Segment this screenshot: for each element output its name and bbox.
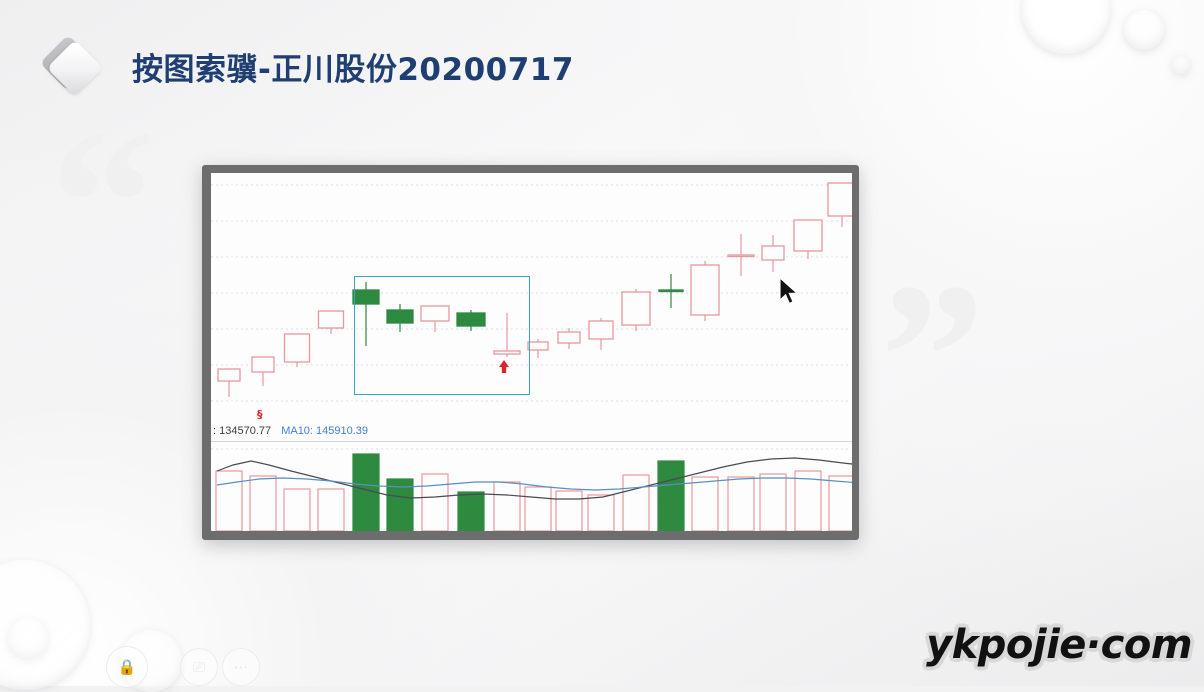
keyboard-icon: ⎚ (181, 649, 217, 685)
pane-divider (211, 441, 852, 442)
decor-bubble (8, 618, 48, 658)
decor-quote-open: “ (50, 128, 155, 279)
decor-ghost-icon: ⋯ (222, 648, 260, 686)
page-title: 按图索骥-正川股份20200717 (132, 44, 574, 89)
chart-canvas[interactable]: § : 134570.77 MA10: 145910.39 (211, 173, 852, 531)
decor-ghost-icon: 🔒 (106, 646, 148, 688)
ma-readout: : 134570.77 MA10: 145910.39 (213, 425, 368, 437)
volume-pane (211, 445, 852, 531)
decor-ghost-icon: ⎚ (180, 648, 218, 686)
price-pane (211, 173, 852, 423)
chart-window: § : 134570.77 MA10: 145910.39 (202, 165, 859, 540)
buy-signal-arrow (211, 173, 851, 423)
marker-glyph: § (257, 409, 263, 420)
header: 按图索骥-正川股份20200717 (0, 0, 1204, 120)
ma-value: : 134570.77 (213, 425, 271, 437)
lock-icon: 🔒 (107, 647, 147, 687)
diamond-icon (44, 39, 98, 93)
dots-icon: ⋯ (223, 649, 259, 685)
site-watermark: ykpojie·com (926, 622, 1192, 668)
ma10-value: MA10: 145910.39 (281, 425, 368, 437)
arrow-cursor-icon (778, 277, 802, 309)
decor-quote-close: ” (880, 282, 985, 433)
volume-ma-lines (211, 445, 851, 531)
